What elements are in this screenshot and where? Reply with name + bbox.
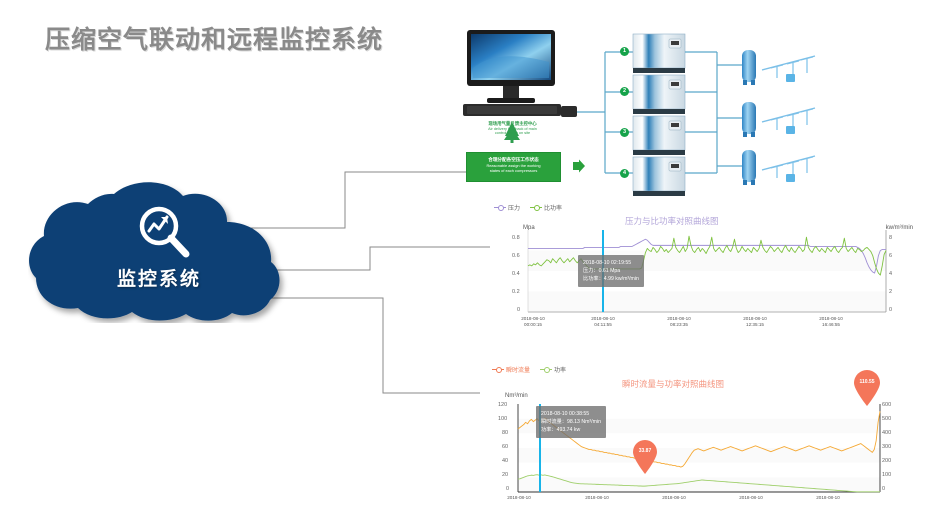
node-badge-2: 2 — [620, 87, 629, 96]
chart1-tooltip-line2: 比功率：4.99 kw/m³/min — [583, 275, 639, 283]
chart2-min-marker-label: 33.87 — [632, 448, 658, 454]
chart2-min-marker-pin[interactable] — [632, 440, 658, 474]
pressure-specific-power-chart: 压力 比功率 压力与比功率对照曲线图 Mpa kw/m³/min 0.8 0.6… — [490, 200, 915, 335]
compressor-unit — [633, 75, 685, 114]
compressor-unit — [633, 116, 685, 155]
chart1-plot — [490, 200, 915, 335]
chart1-xtick-3: 2018-08-1012:35:15 — [720, 316, 790, 328]
chart1-tooltip-timestamp: 2018-08-10 02:19:55 — [583, 259, 639, 267]
flow-power-chart: 瞬时流量 功率 瞬时流量与功率对照曲线图 Nm³/min 120 100 80 … — [480, 362, 915, 529]
slide-root: 压缩空气联动和远程监控系统 监控系统 — [0, 0, 945, 529]
chart1-tooltip-line1: 压力：0.61 Mpa — [583, 267, 639, 275]
chart2-plot — [480, 362, 915, 529]
chart2-tooltip-timestamp: 2018-08-10 00:38:55 — [541, 410, 601, 418]
monitoring-cloud[interactable]: 监控系统 — [28, 178, 290, 323]
monitor-caption: 现场用气量反馈主控中心 Air delivery feedback of mai… — [460, 121, 565, 136]
compressor-unit — [633, 34, 685, 73]
chart1-xtick-2: 2018-08-1008:23:35 — [644, 316, 714, 328]
chart2-xtick-2: 2018-08-10 — [644, 495, 704, 501]
arrow-right-icon — [572, 159, 586, 173]
chart2-xtick-0: 2018-08-10 — [489, 495, 549, 501]
chart2-tooltip-line2: 功率：493.74 kw — [541, 426, 601, 434]
node-badge-3: 3 — [620, 128, 629, 137]
node-badge-4: 4 — [620, 169, 629, 178]
compressor-unit — [633, 157, 685, 196]
monitor-caption-en-2: control center on site — [460, 131, 565, 136]
strategy-callout-box: 合理分配各空压工作状态 Reasonable assign the workin… — [466, 152, 561, 182]
air-tank-network — [742, 50, 815, 85]
air-tank-network — [742, 150, 815, 185]
node-badge-1: 1 — [620, 47, 629, 56]
chart1-tooltip: 2018-08-10 02:19:55 压力：0.61 Mpa 比功率：4.99… — [578, 255, 644, 287]
cloud-label: 监控系统 — [28, 264, 290, 291]
chart1-xtick-4: 2018-08-1016:46:55 — [796, 316, 866, 328]
monitor-icon — [463, 30, 577, 117]
chart2-xtick-4: 2018-08-10 — [798, 495, 858, 501]
chart1-xtick-1: 2018-08-1004:11:55 — [568, 316, 638, 328]
air-tank-network — [742, 102, 815, 137]
chart1-xtick-0: 2018-08-1000:00:15 — [498, 316, 568, 328]
chart2-max-marker-pin[interactable] — [853, 370, 881, 406]
chart2-tooltip: 2018-08-10 00:38:55 瞬时流量：98.13 Nm³/min 功… — [536, 406, 606, 438]
chart2-tooltip-line1: 瞬时流量：98.13 Nm³/min — [541, 418, 601, 426]
strategy-callout-en-2: states of each compressors — [467, 168, 560, 173]
chart2-max-marker-label: 110.55 — [853, 379, 881, 385]
magnifier-chart-icon — [136, 204, 192, 262]
chart2-xtick-1: 2018-08-10 — [567, 495, 627, 501]
chart2-xtick-3: 2018-08-10 — [721, 495, 781, 501]
